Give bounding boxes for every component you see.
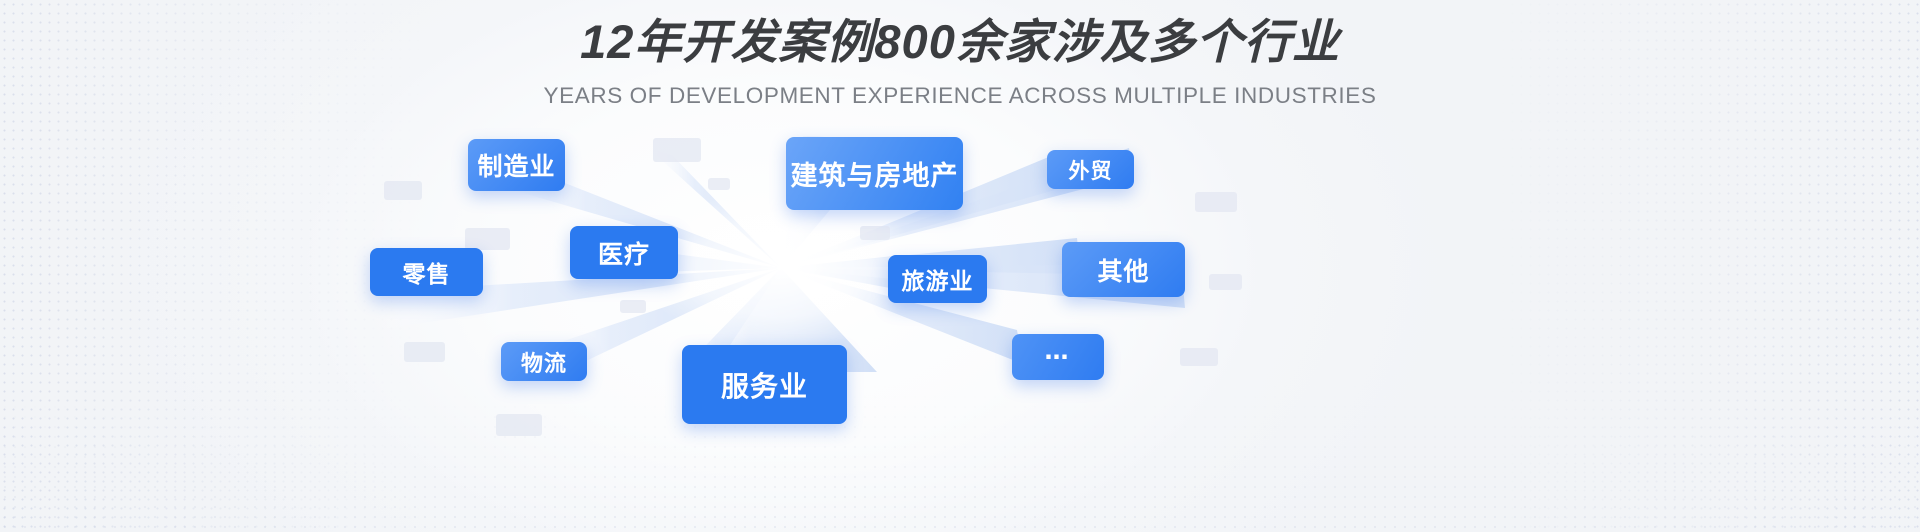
hero-banner: 12年开发案例800余家涉及多个行业 YEARS OF DEVELOPMENT … <box>0 0 1920 532</box>
page-title: 12年开发案例800余家涉及多个行业 <box>0 18 1920 65</box>
decorative-rectangle <box>384 181 422 200</box>
page-subtitle: YEARS OF DEVELOPMENT EXPERIENCE ACROSS M… <box>0 83 1920 109</box>
decorative-rectangle <box>496 414 542 436</box>
industry-tag-label: 零售 <box>403 255 451 289</box>
industry-tag-label: 建筑与房地产 <box>791 154 959 193</box>
industry-tag-retail[interactable]: 零售 <box>370 248 483 296</box>
decorative-rectangle <box>620 300 646 313</box>
header: 12年开发案例800余家涉及多个行业 YEARS OF DEVELOPMENT … <box>0 0 1920 109</box>
dot-pattern-bottom <box>0 382 1920 532</box>
industry-tag-medical[interactable]: 医疗 <box>570 226 678 279</box>
decorative-rectangle <box>1180 348 1218 366</box>
industry-tag-tourism[interactable]: 旅游业 <box>888 255 987 303</box>
decorative-rectangle <box>404 342 445 362</box>
industry-tag-other[interactable]: 其他 <box>1062 242 1185 297</box>
industry-tag-foreign-trade[interactable]: 外贸 <box>1047 150 1134 189</box>
decorative-rectangle <box>1209 274 1242 290</box>
industry-tag-manufacturing[interactable]: 制造业 <box>468 139 565 191</box>
industry-tag-label: 旅游业 <box>902 262 974 296</box>
industry-tag-label: 外贸 <box>1069 155 1113 185</box>
industry-tag-label: 物流 <box>521 346 567 378</box>
industry-tag-label: 制造业 <box>477 147 555 183</box>
decorative-rectangle <box>1195 192 1237 212</box>
decorative-rectangle <box>860 226 890 240</box>
industry-tag-service[interactable]: 服务业 <box>682 345 847 424</box>
industry-tag-logistics[interactable]: 物流 <box>501 342 587 381</box>
industry-tag-ellipsis[interactable]: ⋯ <box>1012 334 1104 380</box>
industry-tag-label: ⋯ <box>1045 343 1072 372</box>
decorative-rectangle <box>653 138 701 162</box>
decorative-rectangle <box>465 228 510 250</box>
industry-tag-label: 医疗 <box>598 235 650 271</box>
industry-tag-construction[interactable]: 建筑与房地产 <box>786 137 963 210</box>
industry-tag-label: 其他 <box>1097 252 1149 288</box>
industry-tag-label: 服务业 <box>721 365 808 405</box>
decorative-rectangle <box>708 178 730 190</box>
